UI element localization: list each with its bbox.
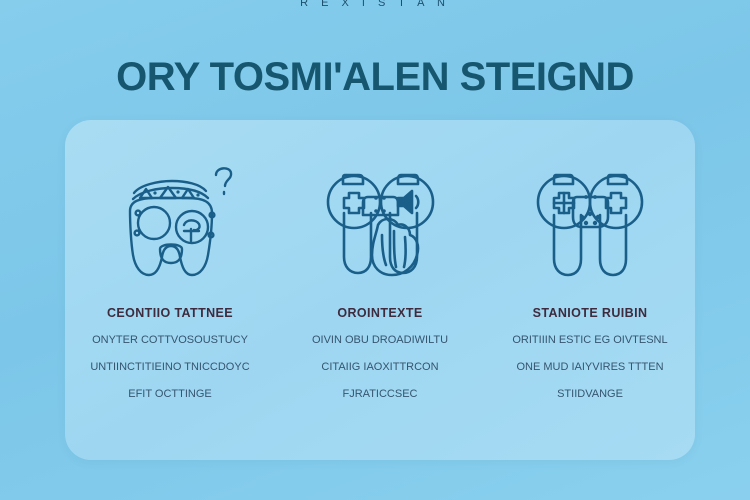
feature-line: OIVIN OBU DROADIWILTU: [312, 334, 448, 346]
feature-line: CITAIIG IAOXITTRCON: [321, 361, 438, 373]
feature-column-3: STANIOTE RUIBIN ORITIIIN ESTIC EG OIVTES…: [485, 120, 695, 460]
feature-line: ONE MUD IAIYVIRES TTTEN: [516, 361, 663, 373]
feature-line: FJRATICCSEC: [343, 388, 418, 400]
feature-heading: CEONTIIO TATTNEE: [107, 306, 233, 320]
eyebrow-text: R E X I S T A N: [0, 0, 750, 10]
feature-line: EFIT OCTTINGE: [128, 388, 212, 400]
feature-line: ONYTER COTTVOSOUSTUCY: [92, 334, 248, 346]
feature-heading: STANIOTE RUIBIN: [533, 306, 648, 320]
feature-heading: OROINTEXTE: [337, 306, 422, 320]
feature-card: CEONTIIO TATTNEE ONYTER COTTVOSOUSTUCY U…: [65, 120, 695, 460]
game-controller-icon: [485, 146, 695, 296]
feature-line: STIIDVANGE: [557, 388, 623, 400]
feature-column-2: OROINTEXTE OIVIN OBU DROADIWILTU CITAIIG…: [275, 120, 485, 460]
feature-columns: CEONTIIO TATTNEE ONYTER COTTVOSOUSTUCY U…: [65, 120, 695, 460]
game-controller-hand-icon: [275, 146, 485, 296]
page-title: ORY TOSMI'ALEN STEIGND: [0, 51, 750, 103]
feature-column-1: CEONTIIO TATTNEE ONYTER COTTVOSOUSTUCY U…: [65, 120, 275, 460]
feature-line: ORITIIIN ESTIC EG OIVTESNL: [512, 334, 667, 346]
poster-page: R E X I S T A N ORY TOSMI'ALEN STEIGND: [0, 0, 750, 500]
game-controller-question-icon: [65, 146, 275, 296]
feature-line: UNTIINCTITIEINO TNICCDOYC: [90, 361, 249, 373]
